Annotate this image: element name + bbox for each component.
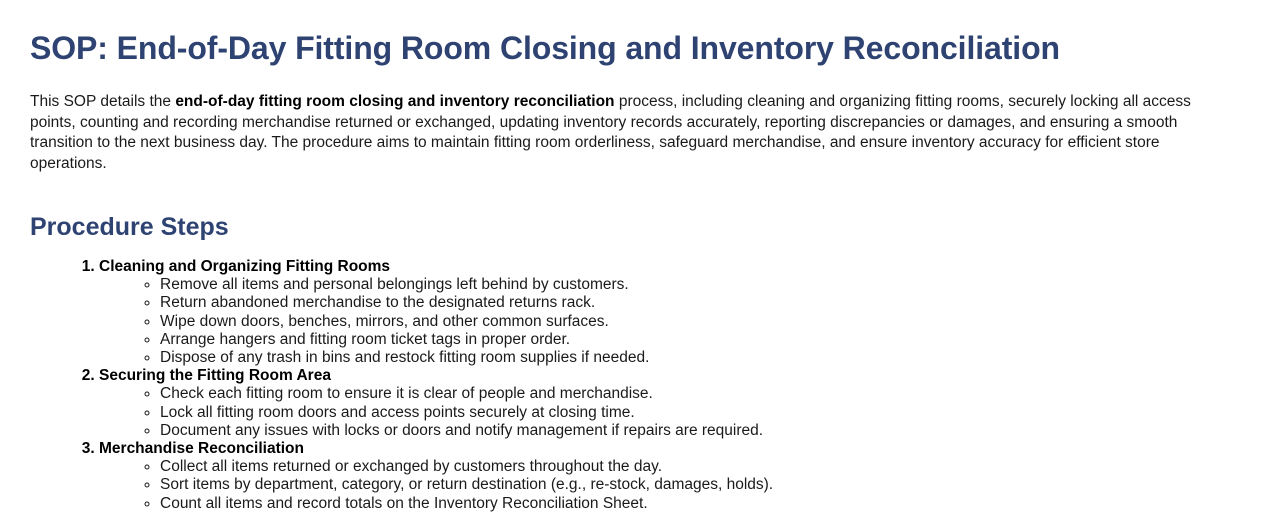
step-label: Securing the Fitting Room Area	[99, 367, 1233, 385]
intro-lead-text: This SOP details the	[30, 93, 175, 110]
substep-item: Count all items and record totals on the…	[160, 495, 1233, 513]
substep-text: Collect all items returned or exchanged …	[160, 458, 662, 475]
page-title: SOP: End-of-Day Fitting Room Closing and…	[30, 0, 1233, 68]
substep-text: Dispose of any trash in bins and restock…	[160, 349, 649, 366]
section-heading-procedure-steps: Procedure Steps	[30, 174, 1233, 242]
substep-text: Sort items by department, category, or r…	[160, 476, 773, 493]
substep-item: Document any issues with locks or doors …	[160, 422, 1233, 440]
substep-text: Check each fitting room to ensure it is …	[160, 385, 653, 402]
procedure-step: Securing the Fitting Room Area Check eac…	[99, 367, 1233, 440]
procedure-step: Merchandise Reconciliation Collect all i…	[99, 440, 1233, 513]
procedure-step: Cleaning and Organizing Fitting Rooms Re…	[99, 258, 1233, 367]
intro-paragraph: This SOP details the end-of-day fitting …	[30, 68, 1233, 174]
substep-text: Wipe down doors, benches, mirrors, and o…	[160, 313, 609, 330]
step-label: Cleaning and Organizing Fitting Rooms	[99, 258, 1233, 276]
substep-text: Count all items and record totals on the…	[160, 495, 648, 512]
substep-item: Wipe down doors, benches, mirrors, and o…	[160, 313, 1233, 331]
substep-item: Arrange hangers and fitting room ticket …	[160, 331, 1233, 349]
substep-item: Sort items by department, category, or r…	[160, 476, 1233, 494]
substep-text: Return abandoned merchandise to the desi…	[160, 294, 595, 311]
step-label: Merchandise Reconciliation	[99, 440, 1233, 458]
substep-list: Collect all items returned or exchanged …	[99, 458, 1233, 513]
intro-emphasis-text: end-of-day fitting room closing and inve…	[175, 93, 614, 110]
document-page: SOP: End-of-Day Fitting Room Closing and…	[0, 0, 1263, 513]
substep-item: Lock all fitting room doors and access p…	[160, 404, 1233, 422]
substep-text: Remove all items and personal belongings…	[160, 276, 629, 293]
substep-item: Collect all items returned or exchanged …	[160, 458, 1233, 476]
substep-item: Return abandoned merchandise to the desi…	[160, 294, 1233, 312]
substep-item: Dispose of any trash in bins and restock…	[160, 349, 1233, 367]
substep-item: Check each fitting room to ensure it is …	[160, 385, 1233, 403]
substep-list: Remove all items and personal belongings…	[99, 276, 1233, 367]
substep-item: Remove all items and personal belongings…	[160, 276, 1233, 294]
substep-text: Lock all fitting room doors and access p…	[160, 404, 635, 421]
substep-list: Check each fitting room to ensure it is …	[99, 385, 1233, 440]
substep-text: Document any issues with locks or doors …	[160, 422, 763, 439]
procedure-steps-list: Cleaning and Organizing Fitting Rooms Re…	[30, 242, 1233, 513]
substep-text: Arrange hangers and fitting room ticket …	[160, 331, 570, 348]
